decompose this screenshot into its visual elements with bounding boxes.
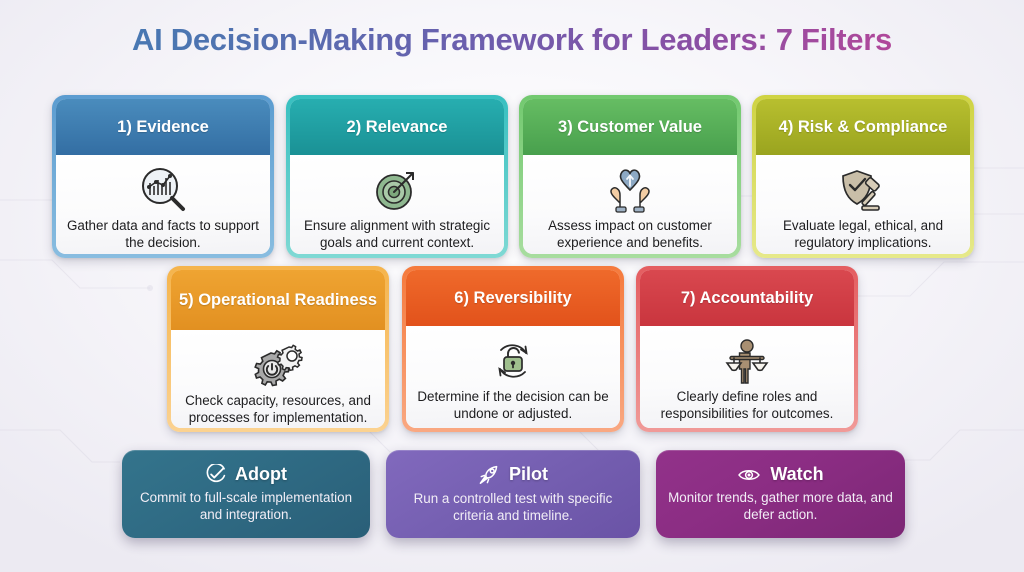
infographic-stage: AI Decision-Making Framework for Leaders… bbox=[0, 0, 1024, 572]
filter-card-reversibility[interactable]: 6) Reversibility bbox=[402, 266, 624, 432]
card-inner: 2) Relevance Ensure alignment with strat… bbox=[290, 99, 504, 254]
action-pill-adopt[interactable]: Adopt Commit to full-scale implementatio… bbox=[122, 450, 370, 538]
card-heading: 1) Evidence bbox=[56, 99, 270, 155]
card-description: Assess impact on customer experience and… bbox=[531, 218, 729, 252]
card-description: Ensure alignment with strategic goals an… bbox=[298, 218, 496, 252]
card-description: Gather data and facts to support the dec… bbox=[64, 218, 262, 252]
card-heading: 2) Relevance bbox=[290, 99, 504, 155]
card-body: Assess impact on customer experience and… bbox=[523, 155, 737, 254]
filter-card-operational-readiness[interactable]: 5) Operational Readiness bbox=[167, 266, 389, 432]
action-label: Adopt bbox=[235, 464, 287, 485]
action-description: Run a controlled test with specific crit… bbox=[398, 491, 628, 525]
card-inner: 6) Reversibility bbox=[406, 270, 620, 428]
eye-icon bbox=[737, 465, 761, 485]
card-body: Ensure alignment with strategic goals an… bbox=[290, 155, 504, 254]
action-description: Commit to full-scale implementation and … bbox=[134, 490, 358, 524]
check-circle-icon bbox=[205, 464, 226, 485]
person-scales-icon bbox=[719, 333, 775, 389]
filter-card-risk-compliance[interactable]: 4) Risk & Compliance Evaluate legal, eth… bbox=[752, 95, 974, 258]
card-body: Evaluate legal, ethical, and regulatory … bbox=[756, 155, 970, 254]
action-label: Pilot bbox=[509, 464, 548, 485]
card-description: Evaluate legal, ethical, and regulatory … bbox=[764, 218, 962, 252]
card-description: Clearly define roles and responsibilitie… bbox=[648, 389, 846, 423]
filter-card-relevance[interactable]: 2) Relevance Ensure alignment with strat… bbox=[286, 95, 508, 258]
filter-card-evidence[interactable]: 1) Evidence bbox=[52, 95, 274, 258]
card-inner: 1) Evidence bbox=[56, 99, 270, 254]
unlock-refresh-icon bbox=[485, 333, 541, 389]
card-body: Determine if the decision can be undone … bbox=[406, 326, 620, 428]
action-description: Monitor trends, gather more data, and de… bbox=[668, 490, 893, 524]
card-inner: 7) Accountability bbox=[640, 270, 854, 428]
filter-card-accountability[interactable]: 7) Accountability bbox=[636, 266, 858, 432]
card-description: Determine if the decision can be undone … bbox=[414, 389, 612, 423]
card-inner: 5) Operational Readiness bbox=[171, 270, 385, 428]
rocket-icon bbox=[478, 464, 500, 486]
magnifier-chart-icon bbox=[137, 162, 189, 218]
card-body: Check capacity, resources, and processes… bbox=[171, 330, 385, 428]
action-title: Pilot bbox=[478, 464, 548, 486]
action-pill-pilot[interactable]: Pilot Run a controlled test with specifi… bbox=[386, 450, 640, 538]
card-inner: 3) Customer Value Assess impact on custo… bbox=[523, 99, 737, 254]
card-heading: 6) Reversibility bbox=[406, 270, 620, 326]
card-heading: 5) Operational Readiness bbox=[171, 270, 385, 330]
card-inner: 4) Risk & Compliance Evaluate legal, eth… bbox=[756, 99, 970, 254]
hands-heart-icon bbox=[602, 162, 658, 218]
page-title: AI Decision-Making Framework for Leaders… bbox=[0, 22, 1024, 58]
target-arrow-icon bbox=[372, 162, 422, 218]
action-title: Adopt bbox=[205, 464, 287, 485]
shield-gavel-icon bbox=[835, 162, 891, 218]
filter-card-customer-value[interactable]: 3) Customer Value Assess impact on custo… bbox=[519, 95, 741, 258]
action-title: Watch bbox=[737, 464, 823, 485]
card-description: Check capacity, resources, and processes… bbox=[179, 393, 377, 427]
card-heading: 4) Risk & Compliance bbox=[756, 99, 970, 155]
action-pill-watch[interactable]: Watch Monitor trends, gather more data, … bbox=[656, 450, 905, 538]
card-body: Clearly define roles and responsibilitie… bbox=[640, 326, 854, 428]
card-body: Gather data and facts to support the dec… bbox=[56, 155, 270, 254]
gears-power-icon bbox=[251, 337, 305, 393]
card-heading: 7) Accountability bbox=[640, 270, 854, 326]
action-label: Watch bbox=[770, 464, 823, 485]
card-heading: 3) Customer Value bbox=[523, 99, 737, 155]
